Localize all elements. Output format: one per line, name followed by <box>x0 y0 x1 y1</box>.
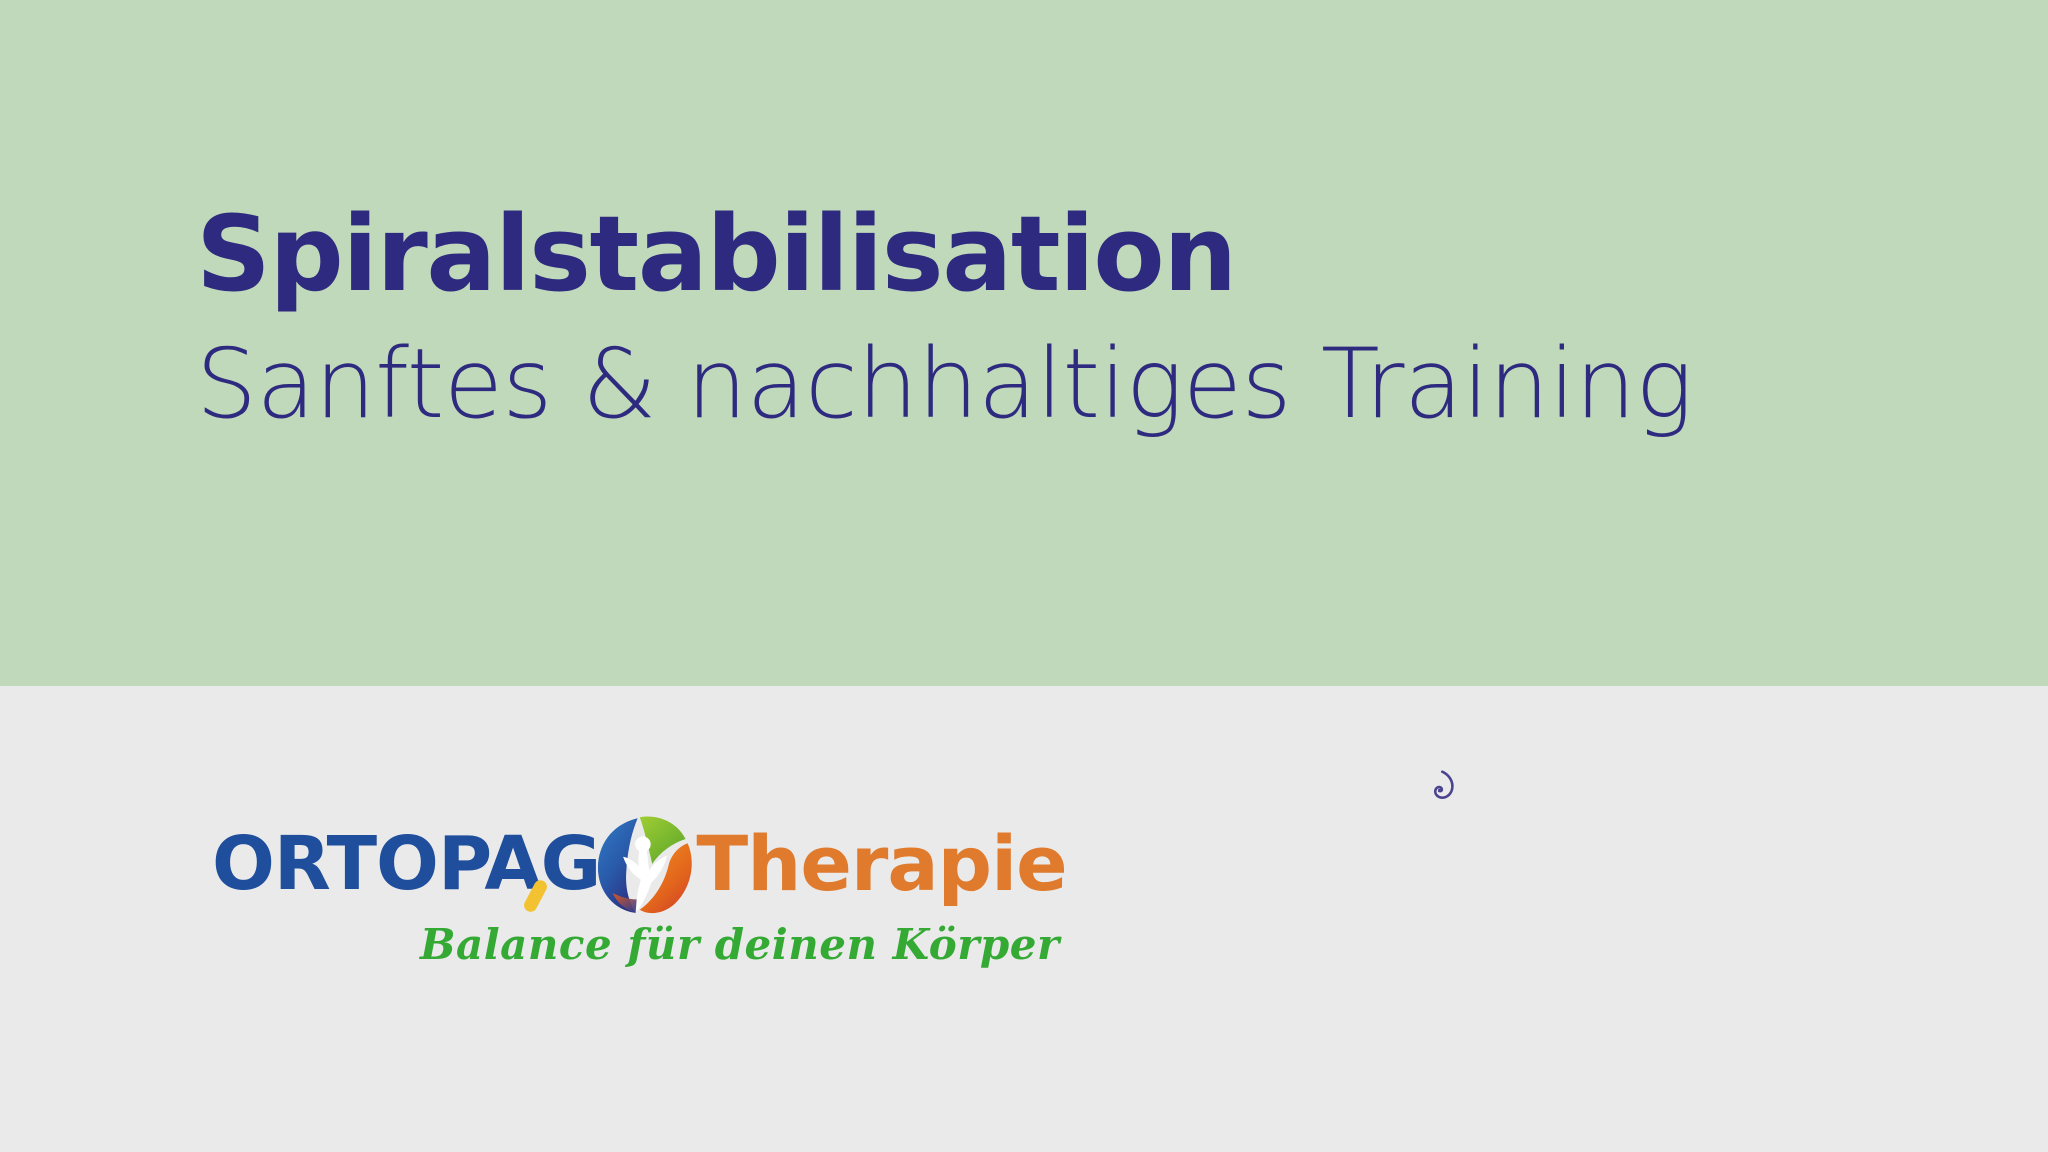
page-subtitle: Sanftes & nachhaltiges Training <box>196 332 1896 438</box>
page-title: Spiralstabilisation <box>196 196 1896 312</box>
slide-canvas: Spiralstabilisation Sanftes & nachhaltig… <box>0 0 2048 1152</box>
headline-block: Spiralstabilisation Sanftes & nachhaltig… <box>196 196 1896 438</box>
logo-word-ortopag: ORTOPAG <box>212 827 600 901</box>
ortopag-person-leaf-mark-icon <box>594 812 698 916</box>
logo-wordmark-row: ORTOPAG <box>212 818 1072 910</box>
brand-logo[interactable]: ORTOPAG <box>212 818 1072 966</box>
logo-word-therapie: Therapie <box>696 826 1066 902</box>
logo-tagline: Balance für deinen Körper <box>212 924 1072 966</box>
